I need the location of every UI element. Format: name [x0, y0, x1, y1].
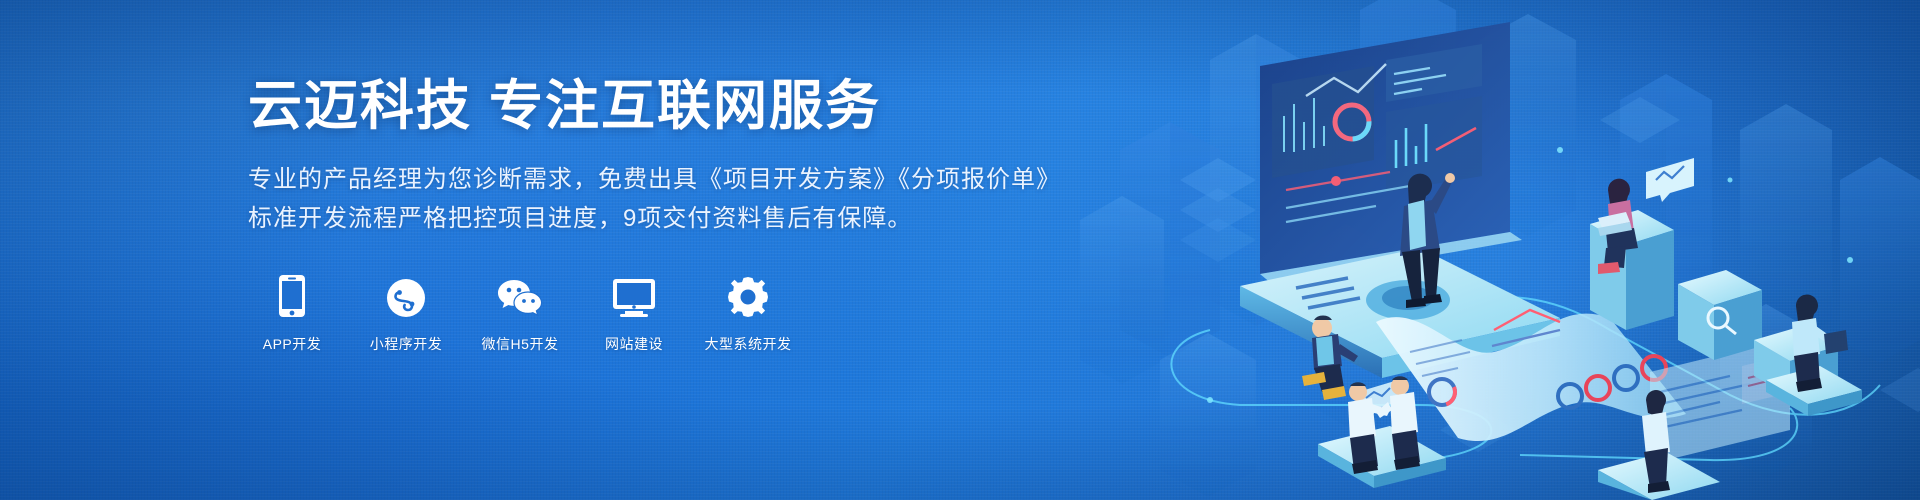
service-label-system: 大型系统开发: [705, 334, 792, 354]
service-label-website: 网站建设: [605, 334, 663, 354]
service-label-app: APP开发: [263, 334, 322, 354]
hero-banner: 云迈科技 专注互联网服务 专业的产品经理为您诊断需求，免费出具《项目开发方案》《…: [0, 0, 1920, 500]
service-item-app[interactable]: APP开发: [248, 274, 336, 354]
service-item-website[interactable]: 网站建设: [590, 274, 678, 354]
banner-headline: 云迈科技 专注互联网服务: [248, 78, 1148, 135]
gear-icon: [727, 274, 769, 318]
service-list: APP开发 小程序开发: [248, 274, 1148, 354]
banner-subtitle-line-1: 专业的产品经理为您诊断需求，免费出具《项目开发方案》《分项报价单》: [248, 161, 1148, 200]
mobile-phone-icon: [277, 274, 307, 318]
service-label-wechat: 微信H5开发: [482, 334, 559, 354]
monitor-icon: [612, 274, 656, 318]
isometric-illustration: [1090, 0, 1920, 500]
service-label-miniprogram: 小程序开发: [370, 334, 443, 354]
wechat-icon: [497, 274, 543, 318]
mini-program-icon: [386, 274, 426, 318]
banner-content: 云迈科技 专注互联网服务 专业的产品经理为您诊断需求，免费出具《项目开发方案》《…: [248, 78, 1148, 354]
service-item-miniprogram[interactable]: 小程序开发: [362, 274, 450, 354]
banner-subtitle-line-2: 标准开发流程严格把控项目进度，9项交付资料售后有保障。: [248, 200, 1148, 239]
service-item-system[interactable]: 大型系统开发: [704, 274, 792, 354]
service-item-wechat[interactable]: 微信H5开发: [476, 274, 564, 354]
